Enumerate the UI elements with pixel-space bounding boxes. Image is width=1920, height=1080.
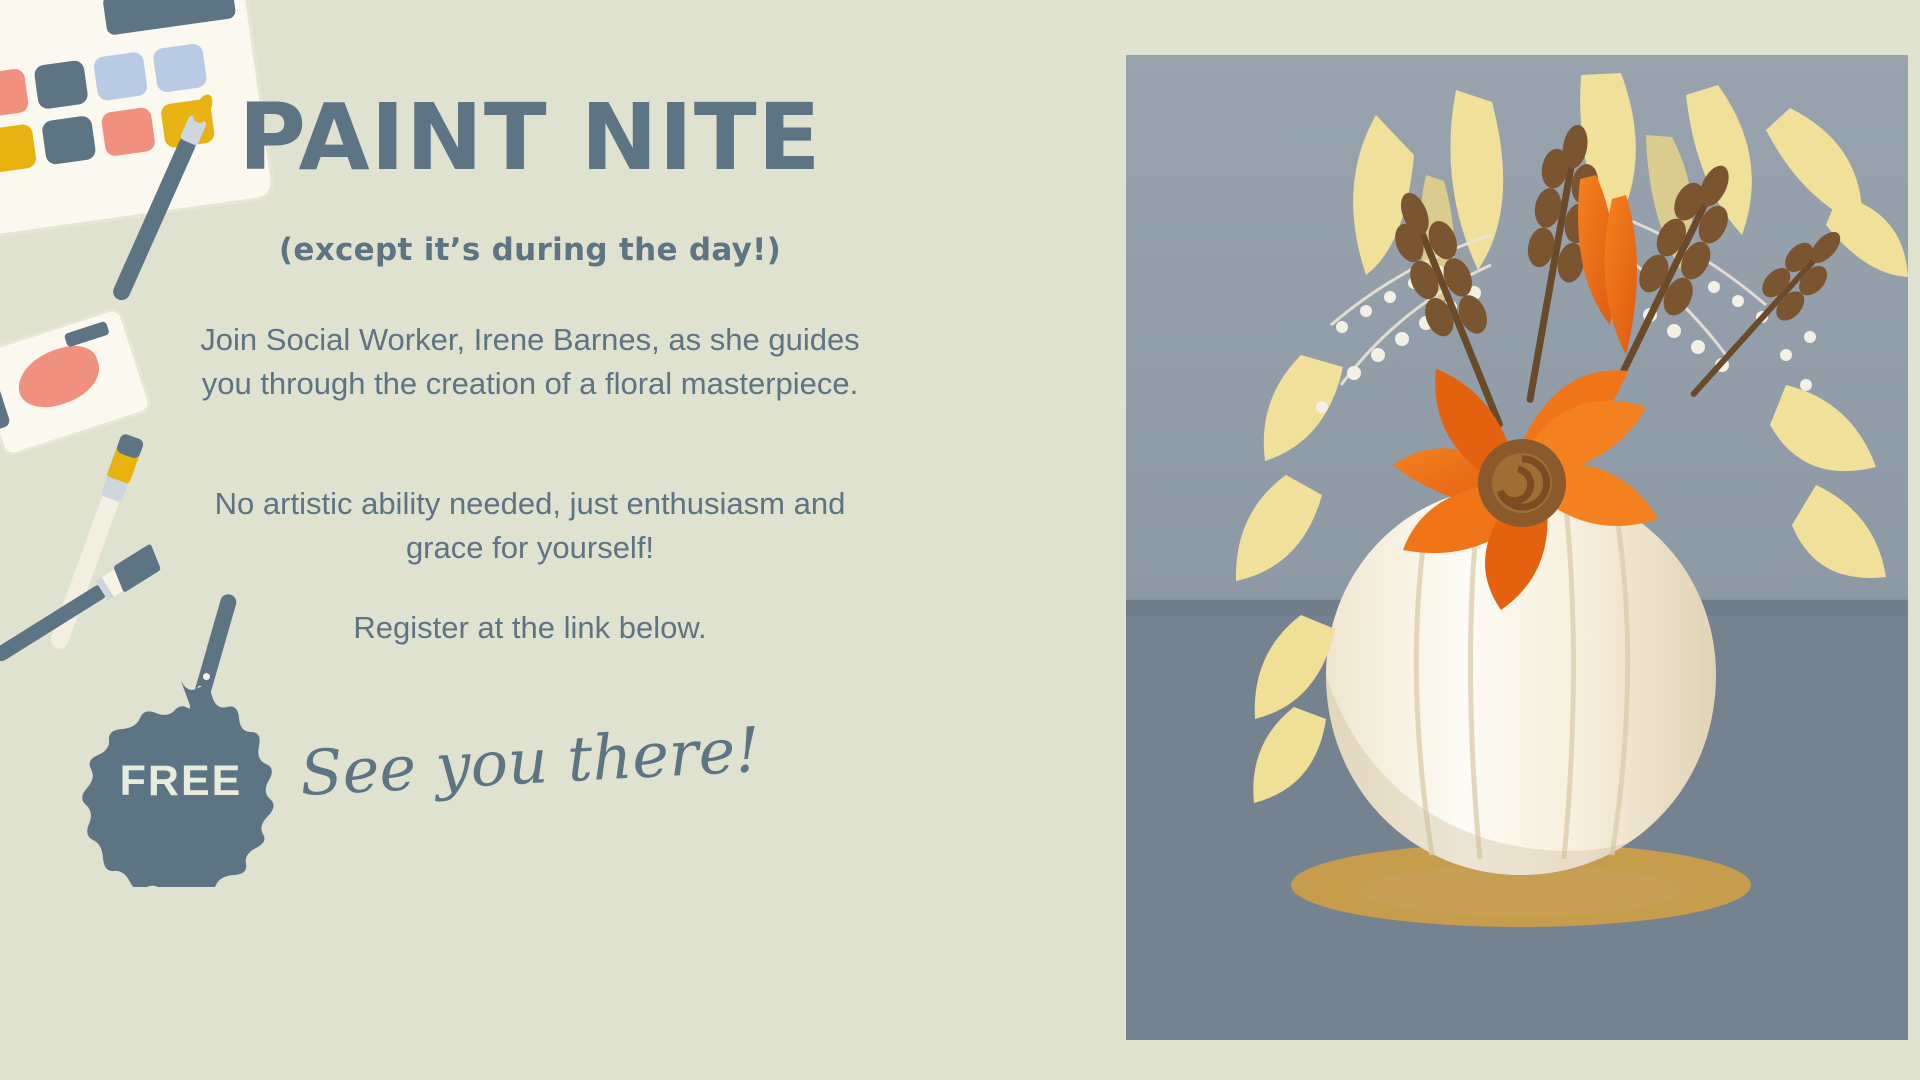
paint-tube-icon bbox=[0, 307, 156, 483]
signoff-script: See you there! bbox=[179, 707, 882, 817]
paintbrush-icon bbox=[0, 535, 175, 675]
paintbrush-icon bbox=[42, 432, 147, 654]
page-title: PAINT NITE bbox=[180, 92, 880, 184]
page-subtitle: (except it’s during the day!) bbox=[180, 232, 880, 268]
flyer-text-column: PAINT NITE (except it’s during the day!)… bbox=[180, 0, 880, 1080]
flyer-canvas: FREE PAINT NITE (except it’s during the … bbox=[0, 0, 1920, 1080]
body-paragraph-2: No artistic ability needed, just enthusi… bbox=[180, 482, 880, 570]
body-paragraph-1: Join Social Worker, Irene Barnes, as she… bbox=[180, 318, 880, 406]
body-paragraph-3: Register at the link below. bbox=[180, 606, 880, 650]
floral-vase-painting bbox=[1126, 55, 1908, 1040]
